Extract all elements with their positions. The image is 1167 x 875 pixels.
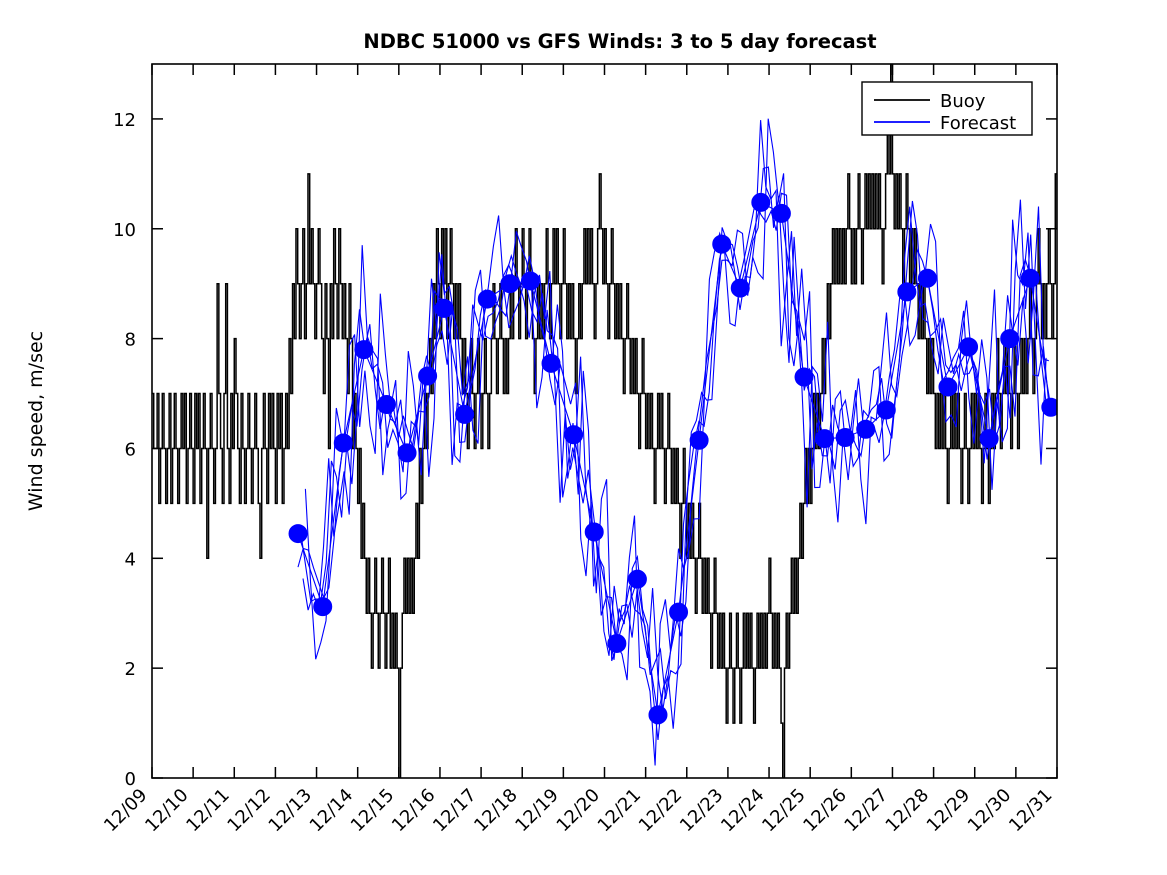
y-axis-label: Wind speed, m/sec [25,331,47,511]
forecast-marker-point [289,525,307,543]
forecast-marker-point [628,570,646,588]
forecast-marker-point [585,523,603,541]
forecast-marker-point [690,431,708,449]
figure-container: NDBC 51000 vs GFS Winds: 3 to 5 day fore… [0,0,1167,875]
forecast-marker-point [435,299,453,317]
forecast-marker-point [772,204,790,222]
forecast-marker-point [836,428,854,446]
forecast-marker-point [355,341,373,359]
forecast-marker-point [608,634,626,652]
forecast-marker-point [898,283,916,301]
forecast-marker-point [918,269,936,287]
forecast-marker-point [939,378,957,396]
forecast-marker-point [752,193,770,211]
y-tick-label: 2 [125,659,136,680]
y-tick-label: 6 [125,439,136,460]
forecast-marker-point [1021,269,1039,287]
legend-label-buoy: Buoy [940,91,986,112]
forecast-marker-point [670,603,688,621]
forecast-marker-point [795,368,813,386]
forecast-marker-point [398,444,416,462]
forecast-marker-point [1001,330,1019,348]
forecast-marker-point [857,420,875,438]
forecast-marker-point [456,405,474,423]
forecast-marker-point [501,275,519,293]
forecast-marker-point [960,338,978,356]
forecast-marker-point [521,272,539,290]
forecast-marker-point [419,367,437,385]
wind-speed-chart: NDBC 51000 vs GFS Winds: 3 to 5 day fore… [0,0,1167,875]
forecast-marker-point [649,706,667,724]
chart-title: NDBC 51000 vs GFS Winds: 3 to 5 day fore… [363,30,876,53]
chart-legend[interactable]: Buoy Forecast [862,82,1032,135]
legend-label-forecast: Forecast [940,113,1016,134]
forecast-marker-point [334,434,352,452]
y-tick-label: 4 [125,549,136,570]
y-tick-label: 10 [113,220,136,241]
forecast-marker-point [713,235,731,253]
forecast-marker-point [816,430,834,448]
y-tick-label: 8 [125,330,136,351]
forecast-marker-point [478,290,496,308]
forecast-marker-point [314,598,332,616]
y-tick-label: 12 [113,110,136,131]
forecast-marker-point [565,426,583,444]
forecast-marker-point [377,396,395,414]
forecast-marker-point [542,354,560,372]
forecast-marker-point [877,401,895,419]
forecast-marker-point [980,430,998,448]
forecast-marker-point [731,279,749,297]
